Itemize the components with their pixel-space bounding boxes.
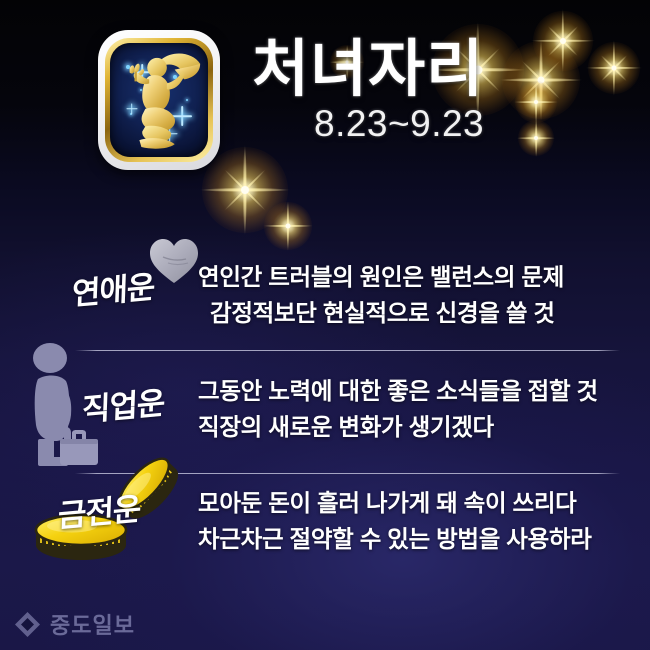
virgo-maiden-icon (110, 43, 208, 157)
fortune-label-money: 금전운 (57, 483, 141, 536)
page-title: 처녀자리 (252, 38, 582, 101)
fortune-list: 연애운 연인간 트러블의 원인은 밸런스의 문제 감정적보단 현실적으로 신경을… (0, 205, 650, 595)
watermark-label: 중도일보 (50, 608, 135, 640)
list-item: 직업운 그동안 노력에 대한 좋은 소식들을 접할 것 직장의 새로운 변화가 … (0, 333, 650, 455)
zodiac-badge (98, 30, 220, 170)
diamond-logo-icon (14, 611, 41, 638)
date-range: 8.23~9.23 (314, 103, 582, 145)
fortune-line: 그동안 노력에 대한 좋은 소식들을 접할 것 (198, 373, 598, 409)
fortune-text-career: 그동안 노력에 대한 좋은 소식들을 접할 것 직장의 새로운 변화가 생기겠다 (198, 373, 598, 445)
watermark: 중도일보 (14, 608, 135, 640)
header: 처녀자리 8.23~9.23 (0, 0, 650, 205)
fortune-line: 차근차근 절약할 수 있는 방법을 사용하라 (198, 521, 592, 557)
title-block: 처녀자리 8.23~9.23 (252, 38, 582, 145)
horoscope-card: 처녀자리 8.23~9.23 (0, 0, 650, 650)
list-item: 연애운 연인간 트러블의 원인은 밸런스의 문제 감정적보단 현실적으로 신경을… (0, 223, 650, 341)
fortune-label-love: 연애운 (71, 261, 155, 314)
heart-icon (148, 237, 200, 285)
fortune-text-money: 모아둔 돈이 흘러 나가게 돼 속이 쓰리다 차근차근 절약할 수 있는 방법을… (198, 485, 592, 557)
list-item: 금전운 모아둔 돈이 흘러 나가게 돼 속이 쓰리다 차근차근 절약할 수 있는… (0, 453, 650, 585)
fortune-line: 직장의 새로운 변화가 생기겠다 (198, 409, 598, 445)
fortune-label-career: 직업운 (81, 377, 165, 430)
zodiac-badge-frame (105, 38, 213, 162)
fortune-line: 감정적보단 현실적으로 신경을 쓸 것 (210, 295, 564, 331)
fortune-line: 모아둔 돈이 흘러 나가게 돼 속이 쓰리다 (198, 485, 592, 521)
fortune-line: 연인간 트러블의 원인은 밸런스의 문제 (198, 259, 564, 295)
fortune-text-love: 연인간 트러블의 원인은 밸런스의 문제 감정적보단 현실적으로 신경을 쓸 것 (198, 259, 564, 331)
